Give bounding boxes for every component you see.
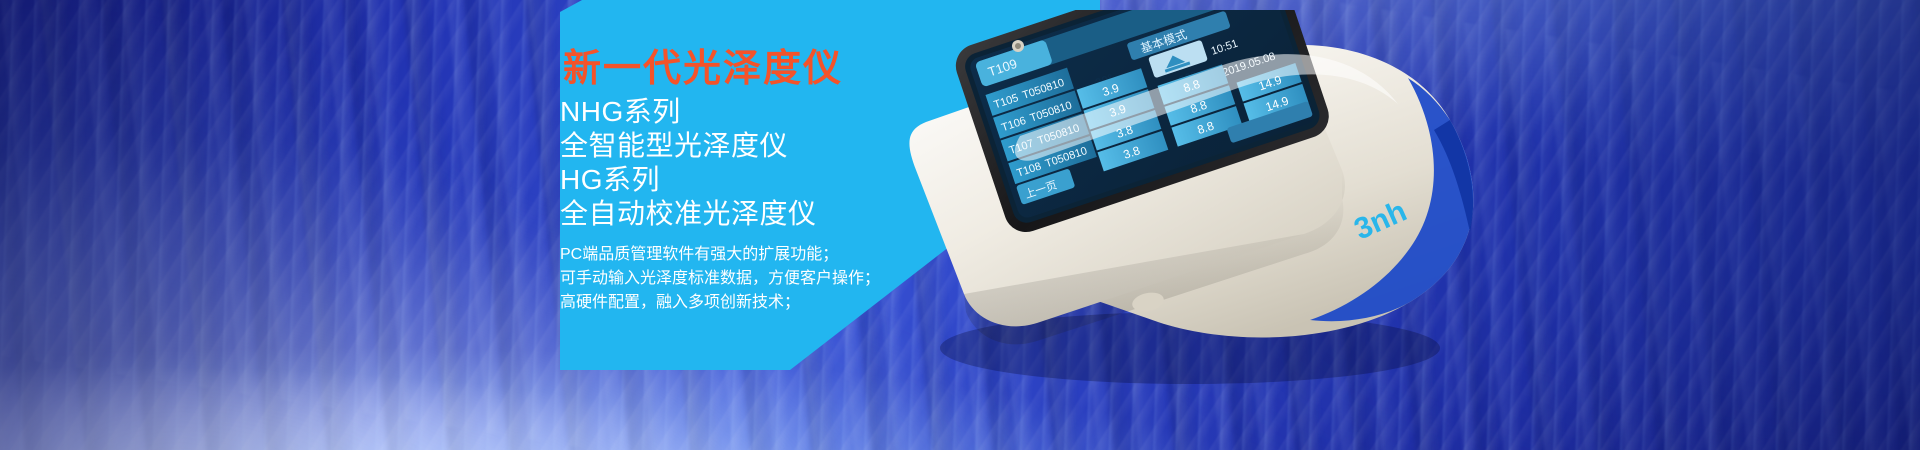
product-line-4: 全自动校准光泽度仪 (560, 197, 817, 231)
product-line-3: HG系列 (560, 163, 817, 197)
feature-item-3: 高硬件配置，融入多项创新技术； (560, 291, 880, 315)
feature-item-1: PC端品质管理软件有强大的扩展功能； (560, 243, 880, 267)
product-line-1: NHG系列 (560, 95, 817, 129)
gloss-meter-device: T109 基本模式 10:51 2019.05.08 20° 60° 85° (890, 10, 1510, 410)
product-line-list: NHG系列 全智能型光泽度仪 HG系列 全自动校准光泽度仪 (560, 95, 817, 231)
headline: 新一代光泽度仪 (563, 50, 843, 88)
product-line-2: 全智能型光泽度仪 (560, 129, 817, 163)
feature-list: PC端品质管理软件有强大的扩展功能； 可手动输入光泽度标准数据，方便客户操作； … (560, 243, 880, 315)
product-banner: 新一代光泽度仪 NHG系列 全智能型光泽度仪 HG系列 全自动校准光泽度仪 PC… (0, 0, 1920, 450)
feature-item-2: 可手动输入光泽度标准数据，方便客户操作； (560, 267, 880, 291)
